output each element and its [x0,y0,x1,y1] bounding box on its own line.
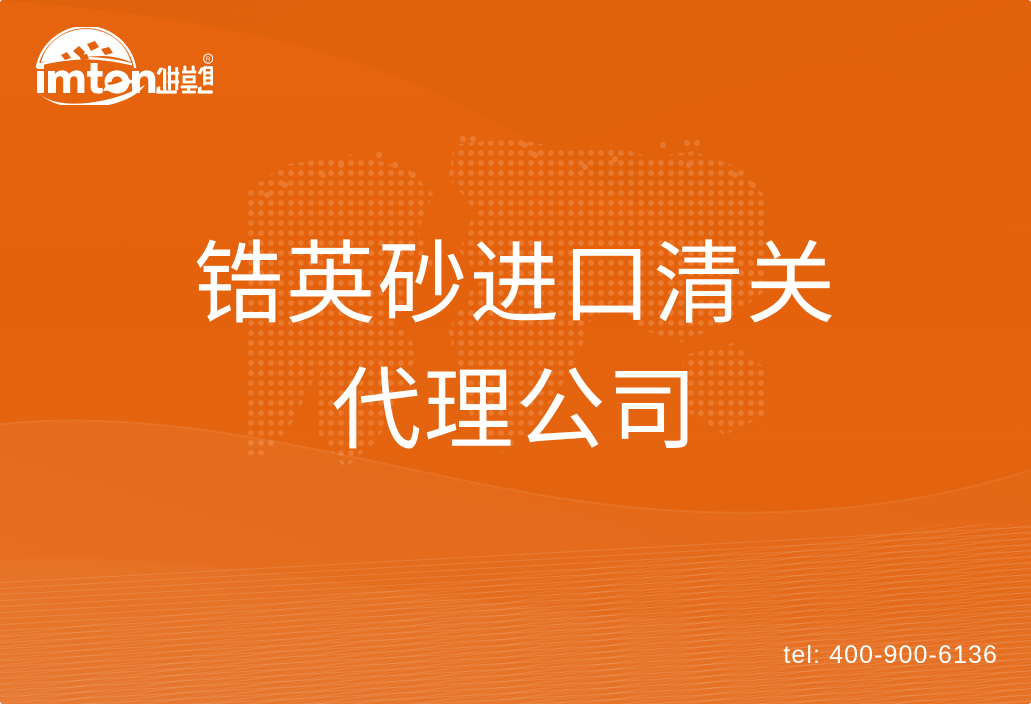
brand-logo[interactable]: R [33,27,213,105]
promo-banner: R 锆英砂进口清关 代理公司 tel: 400-900-6136 [0,0,1031,704]
striation-texture [0,524,1031,704]
page-title-line-1: 锆英砂进口清关 [0,222,1031,348]
logo-wordmark-chinese [156,66,213,94]
logo-artwork: R [33,27,213,105]
page-title-line-2: 代理公司 [0,348,1031,474]
page-title: 锆英砂进口清关 代理公司 [0,222,1031,474]
svg-text:R: R [206,57,211,63]
globe-arc-icon [37,27,135,67]
contact-phone[interactable]: tel: 400-900-6136 [783,641,998,670]
registered-mark-icon: R [204,54,213,63]
